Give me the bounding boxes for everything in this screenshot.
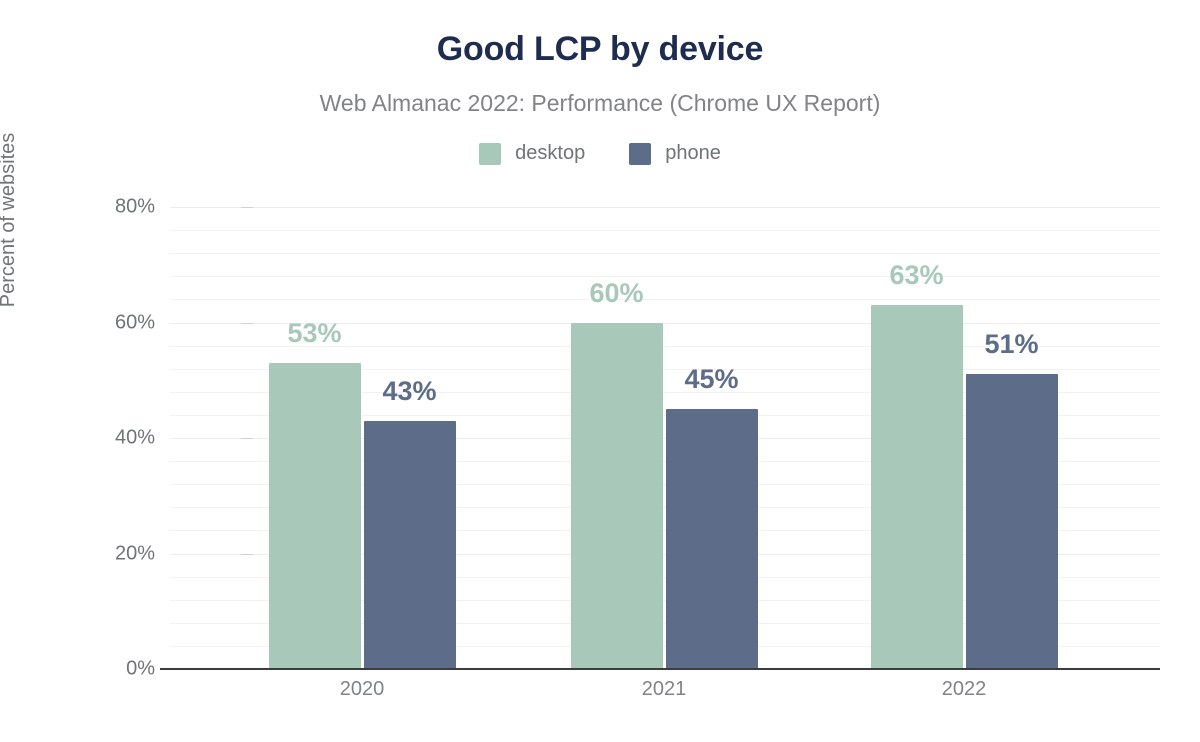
legend-item-desktop[interactable]: desktop bbox=[479, 142, 585, 165]
bar-value-label-desktop-2020: 53% bbox=[287, 318, 341, 349]
y-tick-mark bbox=[241, 207, 253, 208]
y-axis-ticks: 0%20%40%60%80% bbox=[75, 207, 155, 669]
bar-phone-2020[interactable] bbox=[364, 421, 456, 669]
gridline bbox=[170, 230, 1160, 231]
chart-legend: desktopphone bbox=[0, 142, 1200, 165]
gridline bbox=[170, 299, 1160, 300]
x-tick-label-2022: 2022 bbox=[942, 678, 987, 701]
bar-value-label-desktop-2021: 60% bbox=[589, 278, 643, 309]
legend-swatch-phone bbox=[629, 143, 651, 165]
legend-label-desktop: desktop bbox=[515, 142, 585, 165]
bar-value-label-phone-2021: 45% bbox=[684, 364, 738, 395]
gridline bbox=[170, 276, 1160, 277]
bar-desktop-2020[interactable] bbox=[269, 363, 361, 669]
x-axis-labels: 202020212022 bbox=[0, 678, 1200, 712]
y-axis-title: Percent of websites bbox=[0, 100, 20, 340]
gridline bbox=[170, 253, 1160, 254]
bar-value-label-phone-2022: 51% bbox=[984, 329, 1038, 360]
y-tick-mark bbox=[241, 438, 253, 439]
chart-container: Good LCP by device Web Almanac 2022: Per… bbox=[0, 0, 1200, 742]
chart-title: Good LCP by device bbox=[0, 30, 1200, 69]
y-tick-mark bbox=[241, 554, 253, 555]
chart-subtitle: Web Almanac 2022: Performance (Chrome UX… bbox=[0, 90, 1200, 117]
x-axis-line bbox=[160, 668, 1160, 670]
x-tick-label-2020: 2020 bbox=[340, 678, 385, 701]
y-tick-label-60%: 60% bbox=[75, 311, 155, 334]
y-tick-label-40%: 40% bbox=[75, 427, 155, 450]
y-tick-mark bbox=[241, 323, 253, 324]
bar-desktop-2022[interactable] bbox=[871, 305, 963, 669]
y-tick-label-20%: 20% bbox=[75, 542, 155, 565]
bar-value-label-phone-2020: 43% bbox=[382, 376, 436, 407]
bar-phone-2022[interactable] bbox=[966, 374, 1058, 669]
legend-item-phone[interactable]: phone bbox=[629, 142, 721, 165]
y-tick-label-80%: 80% bbox=[75, 196, 155, 219]
plot-area: 53%43%60%45%63%51% bbox=[170, 207, 1160, 669]
x-tick-label-2021: 2021 bbox=[642, 678, 687, 701]
legend-swatch-desktop bbox=[479, 143, 501, 165]
gridline bbox=[170, 207, 1160, 208]
legend-label-phone: phone bbox=[665, 142, 721, 165]
bar-desktop-2021[interactable] bbox=[571, 323, 663, 670]
bar-phone-2021[interactable] bbox=[666, 409, 758, 669]
bar-value-label-desktop-2022: 63% bbox=[889, 260, 943, 291]
